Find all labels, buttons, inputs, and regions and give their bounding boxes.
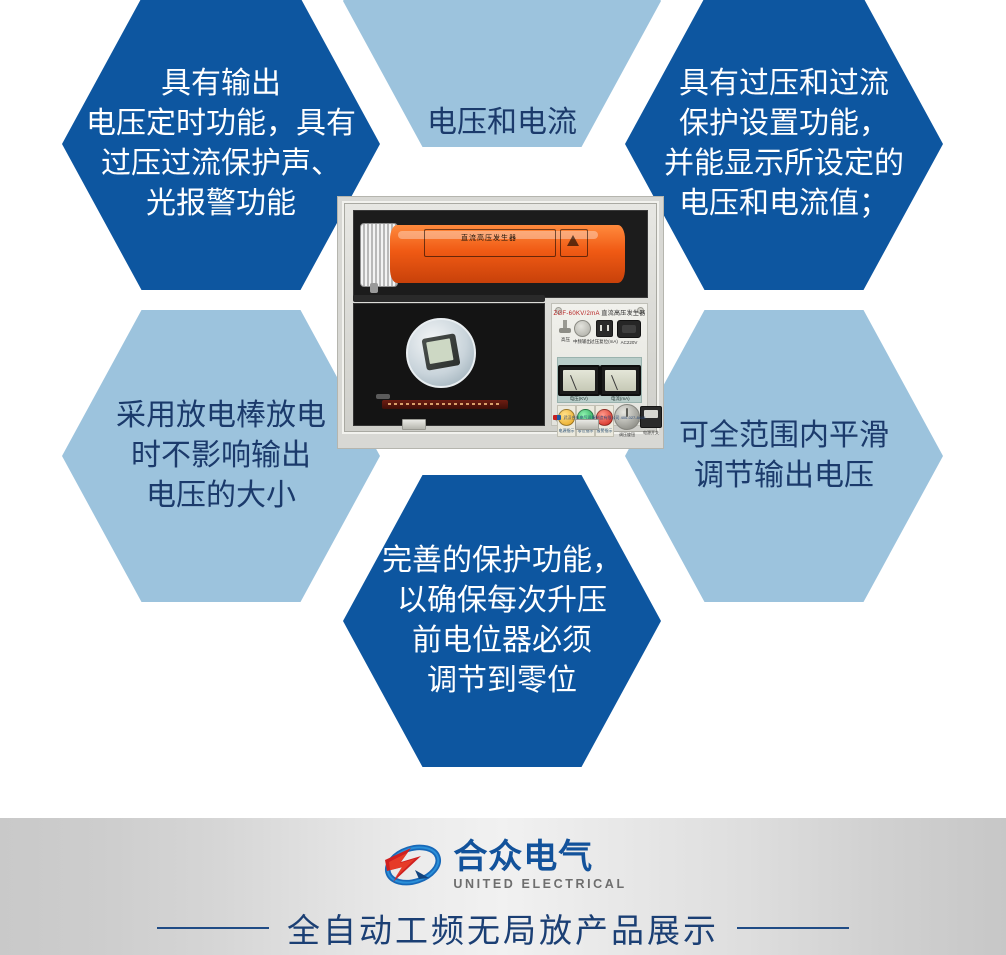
hexagon-mid-right[interactable]: 可全范围内平滑 调节输出电压 — [625, 310, 943, 602]
high-voltage-warning-icon — [560, 229, 588, 257]
digital-meter-accessory — [406, 318, 476, 388]
connector-label-3: AC220V — [621, 340, 638, 345]
current-meter: 电流(mA) — [600, 365, 642, 396]
case-upper-compartment: 直流高压发生器 — [353, 210, 648, 298]
power-inlet-icon — [617, 320, 641, 338]
title-rule-right — [737, 927, 849, 929]
connector-ground-terminal[interactable]: 中频输出 — [573, 320, 591, 345]
product-photo: 直流高压发生器 ZGF-60KV/2mA 直流高压发生器 — [337, 196, 664, 449]
connector-label-1: 中频输出 — [573, 339, 591, 345]
voltage-meter-label: 电压(KV) — [560, 396, 598, 402]
connector-power-inlet[interactable]: AC220V — [617, 320, 641, 345]
meter-band: 电压(KV) 电流(mA) — [557, 357, 642, 403]
current-meter-needle — [611, 374, 618, 389]
current-meter-face — [605, 370, 637, 391]
hexagon-top-left[interactable]: 具有输出 电压定时功能，具有 过压过流保护声、 光报警功能 — [62, 0, 380, 290]
panel-model-title: ZGF-60KV/2mA 直流高压发生器 — [552, 308, 647, 317]
hexagon-top-center-text: 电压和电流 — [423, 103, 581, 147]
power-lamp-box: 电源指示 — [557, 405, 576, 437]
panel-brand-logo-icon — [553, 415, 561, 420]
connector-label-0: 高压 — [561, 337, 570, 343]
case-accessory-compartment — [353, 303, 545, 426]
connector-row: 高压 中频输出 过压复位(mA) AC220V — [558, 320, 641, 354]
power-switch-group[interactable]: 电源开关 — [640, 406, 662, 436]
hv-tube-label-text: 直流高压发生器 — [428, 233, 550, 243]
hexagon-top-left-text: 具有输出 电压定时功能，具有 过压过流保护声、 光报警功能 — [82, 64, 360, 225]
case-latch-right — [575, 419, 599, 430]
hexagon-mid-right-text: 可全范围内平滑 调节输出电压 — [675, 416, 893, 496]
hexagon-bottom-center-text: 完善的保护功能， 以确保每次升压 前电位器必须 调节到零位 — [378, 541, 626, 702]
case-handle — [353, 295, 545, 302]
panel-model-number: ZGF-60KV/2mA — [553, 311, 599, 317]
power-lamp-label: 电源指示 — [559, 428, 575, 434]
hexagon-bottom-center[interactable]: 完善的保护功能， 以确保每次升压 前电位器必须 调节到零位 — [343, 475, 661, 767]
connector-output-post[interactable]: 高压 — [558, 320, 573, 343]
footer-title: 全自动工频无局放产品展示 — [287, 904, 719, 952]
voltage-adjust-knob-label: 调压旋钮 — [619, 432, 635, 438]
current-meter-label: 电流(mA) — [602, 396, 640, 402]
voltage-meter-needle — [570, 374, 577, 389]
brand-logo: 合众电气 UNITED ELECTRICAL — [0, 836, 1006, 894]
hexagon-mid-left-text: 采用放电棒放电 时不影响输出 电压的大小 — [112, 396, 330, 517]
case-latch-left — [402, 419, 426, 430]
discharge-rod-clip — [376, 394, 390, 399]
footer-bar: 合众电气 UNITED ELECTRICAL 全自动工频无局放产品展示 — [0, 818, 1006, 955]
output-post-icon — [558, 320, 573, 335]
panel-brand-text: 武汉合众电气设备制造有限公司 400-027-8448 — [552, 415, 647, 421]
voltage-adjust-knob-group[interactable]: 调压旋钮 — [614, 404, 640, 438]
connector-control-socket[interactable]: 过压复位(mA) — [591, 320, 617, 345]
hexagon-top-center[interactable]: 电压和电流 — [343, 0, 661, 147]
discharge-rod — [382, 400, 508, 409]
feature-hexagon-grid: 电压和电流 具有输出 电压定时功能，具有 过压过流保护声、 光报警功能 具有过压… — [0, 0, 1006, 818]
logo-lightning-swoosh-icon — [379, 838, 445, 892]
power-switch-label: 电源开关 — [643, 430, 659, 436]
control-socket-icon — [596, 320, 613, 337]
control-panel: ZGF-60KV/2mA 直流高压发生器 高压 中频输出 过压复位(mA) — [551, 303, 648, 426]
hexagon-top-right[interactable]: 具有过压和过流 保护设置功能， 并能显示所设定的 电压和电流值； — [625, 0, 943, 290]
footer-title-row: 全自动工频无局放产品展示 — [0, 904, 1006, 952]
hv-tube-foot — [370, 283, 378, 293]
ground-terminal-icon — [574, 320, 591, 337]
meter-display-screen — [421, 333, 460, 370]
voltage-meter-face — [563, 370, 595, 391]
logo-text-block: 合众电气 UNITED ELECTRICAL — [453, 840, 626, 891]
logo-company-name-en: UNITED ELECTRICAL — [453, 878, 626, 891]
connector-label-2: 过压复位(mA) — [590, 339, 618, 345]
hexagon-mid-left[interactable]: 采用放电棒放电 时不影响输出 电压的大小 — [62, 310, 380, 602]
hexagon-top-right-text: 具有过压和过流 保护设置功能， 并能显示所设定的 电压和电流值； — [660, 64, 908, 225]
equipment-case: 直流高压发生器 ZGF-60KV/2mA 直流高压发生器 — [342, 201, 659, 434]
voltage-meter: 电压(KV) — [558, 365, 600, 396]
logo-company-name-cn: 合众电气 — [453, 840, 593, 874]
title-rule-left — [157, 927, 269, 929]
panel-model-name: 直流高压发生器 — [601, 311, 645, 317]
indicator-and-control-row: 电源指示 零位指示 报警指示 调压旋钮 — [557, 404, 642, 438]
